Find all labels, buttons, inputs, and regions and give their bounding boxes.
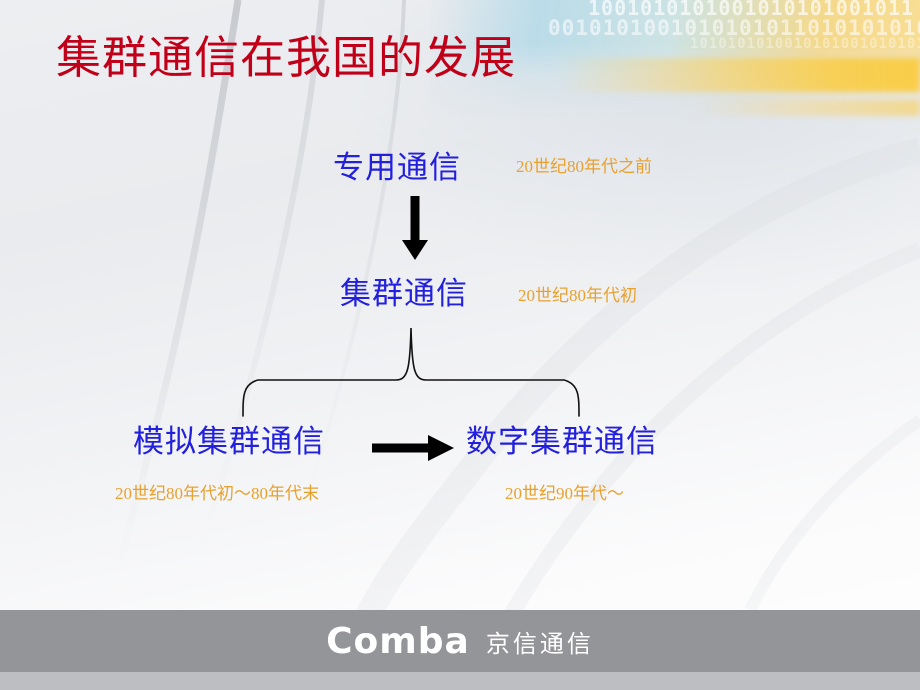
arrow-right-icon (372, 432, 456, 464)
flow-node-private-comm: 专用通信 (333, 152, 461, 183)
footer-logo: Comba 京信通信 (0, 610, 920, 672)
flow-caption-trunking: 20世纪80年代初 (518, 287, 637, 304)
flow-caption-digital: 20世纪90年代～ (505, 485, 624, 502)
flow-caption-private-comm: 20世纪80年代之前 (516, 158, 652, 175)
brand-wordmark: Comba (326, 621, 470, 662)
footer-bar-lower (0, 672, 920, 690)
flow-node-analog: 模拟集群通信 (133, 426, 325, 457)
flow-node-digital: 数字集群通信 (466, 426, 658, 457)
header-gold-band (560, 58, 920, 92)
slide-canvas: 1001010101001010101001011 00101010010101… (0, 0, 920, 690)
flow-node-trunking: 集群通信 (340, 278, 468, 309)
branch-brace-connector (236, 322, 586, 422)
header-gold-band-secondary (700, 100, 920, 116)
flow-caption-analog: 20世纪80年代初～80年代末 (115, 485, 319, 502)
arrow-down-icon (393, 196, 437, 262)
brand-wordmark-chinese: 京信通信 (486, 624, 594, 659)
page-title: 集群通信在我国的发展 (56, 34, 516, 83)
